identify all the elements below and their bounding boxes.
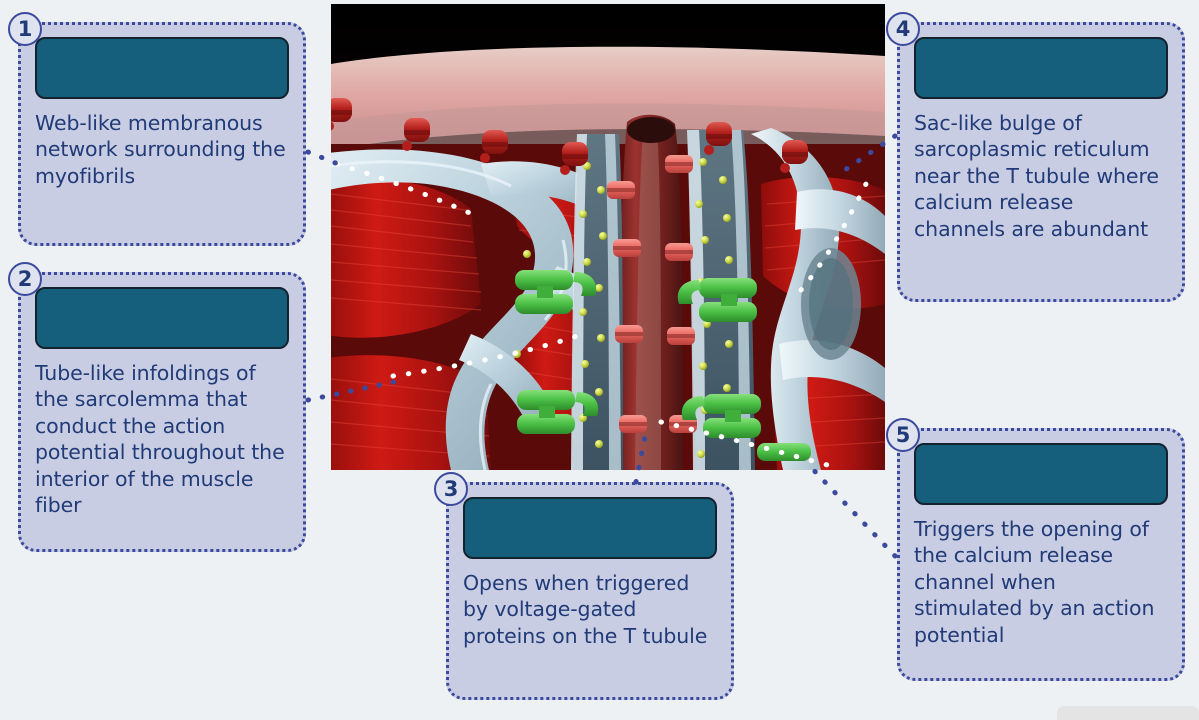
callout-text-1: Web-like membranous network surrounding …: [35, 110, 289, 189]
callout-header-1[interactable]: [35, 37, 289, 99]
bottom-status-bar: [1057, 706, 1199, 720]
callout-header-4[interactable]: [914, 37, 1168, 99]
callout-card-3[interactable]: Opens when triggered by voltage-gated pr…: [446, 482, 734, 700]
callout-header-2[interactable]: [35, 287, 289, 349]
connector-5: [806, 462, 895, 556]
callout-card-4[interactable]: Sac-like bulge of sarcoplasmic reticulum…: [897, 22, 1185, 302]
callout-badge-5[interactable]: 5: [886, 418, 920, 452]
callout-text-2: Tube-like infoldings of the sarcolemma t…: [35, 360, 289, 519]
callout-badge-1[interactable]: 1: [8, 12, 42, 46]
callout-card-2[interactable]: Tube-like infoldings of the sarcolemma t…: [18, 272, 306, 552]
muscle-fiber-illustration: [331, 4, 885, 470]
callout-header-5[interactable]: [914, 443, 1168, 505]
callout-header-3[interactable]: [463, 497, 717, 559]
callout-badge-2[interactable]: 2: [8, 262, 42, 296]
callout-card-1[interactable]: Web-like membranous network surrounding …: [18, 22, 306, 246]
callout-text-5: Triggers the opening of the calcium rele…: [914, 516, 1168, 648]
callout-text-3: Opens when triggered by voltage-gated pr…: [463, 570, 717, 649]
callout-badge-4[interactable]: 4: [886, 12, 920, 46]
callout-text-4: Sac-like bulge of sarcoplasmic reticulum…: [914, 110, 1168, 242]
callout-card-5[interactable]: Triggers the opening of the calcium rele…: [897, 428, 1185, 681]
callout-badge-3[interactable]: 3: [434, 472, 468, 506]
